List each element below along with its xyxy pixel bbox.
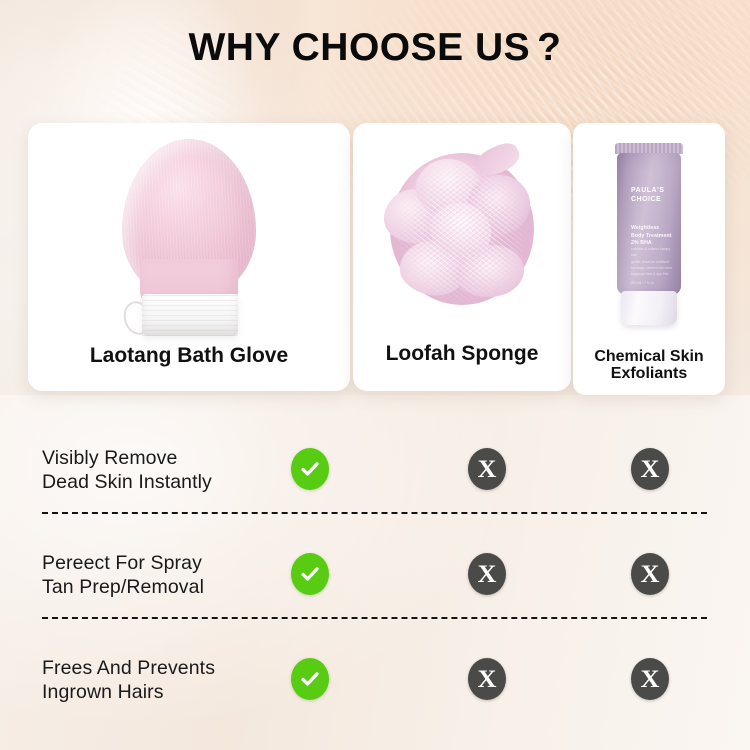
cross-glyph: X (641, 667, 660, 692)
table-row: Frees And Prevents Ingrown Hairs X X (0, 630, 750, 730)
tube-body: PAULA'S CHOICE Weightless Body Treatment… (617, 153, 681, 295)
page-title-text: WHY CHOOSE US (189, 26, 531, 69)
row-divider (42, 512, 707, 514)
tube-brand-name: PAULA'S CHOICE (617, 187, 695, 205)
tube-brand-line-1: PAULA'S (631, 187, 695, 196)
cross-icon: X (631, 553, 669, 595)
feature-label: Visibly Remove Dead Skin Instantly (42, 446, 212, 494)
check-icon (291, 448, 329, 490)
product-card-loofah-sponge[interactable]: Loofah Sponge (353, 123, 571, 391)
mark-cell-bath-glove (291, 658, 329, 700)
mark-cell-bath-glove (291, 448, 329, 490)
product-image-chemical-exfoliants: PAULA'S CHOICE Weightless Body Treatment… (573, 123, 725, 345)
comparison-table: Visibly Remove Dead Skin Instantly X X P… (0, 420, 750, 730)
mark-cell-chemical-exfoliants: X (631, 448, 669, 490)
check-icon (291, 553, 329, 595)
tube-brand-line-2: CHOICE (631, 196, 695, 205)
feature-label-line-2: Ingrown Hairs (42, 680, 215, 704)
cross-glyph: X (478, 457, 497, 482)
feature-label-line-1: Visibly Remove (42, 446, 212, 470)
glove-white-cuff (142, 294, 238, 336)
product-image-bath-glove (28, 123, 350, 341)
row-divider (42, 617, 707, 619)
product-name-chemical-exfoliants: Chemical Skin Exfoliants (573, 348, 725, 383)
table-row: Pereect For Spray Tan Prep/Removal X X (0, 525, 750, 630)
tube-description: Weightless Body Treatment 2% BHA (617, 225, 695, 248)
tube-cap (621, 291, 677, 325)
cross-icon: X (631, 448, 669, 490)
feature-label: Pereect For Spray Tan Prep/Removal (42, 551, 204, 599)
tube-desc-line-2: Body Treatment (631, 233, 695, 241)
product-image-loofah-sponge (353, 123, 571, 338)
cross-glyph: X (478, 667, 497, 692)
loofah-sponge-icon (382, 145, 542, 317)
page-title: WHY CHOOSE US? (0, 28, 750, 67)
tube-fine-line-2: gentle, leave-on exfoliant (631, 259, 675, 265)
mark-cell-chemical-exfoliants: X (631, 658, 669, 700)
feature-label-line-2: Tan Prep/Removal (42, 575, 204, 599)
product-card-row: Laotang Bath Glove Loofah Sponge (0, 123, 750, 395)
cross-icon: X (468, 448, 506, 490)
mark-cell-loofah-sponge: X (468, 553, 506, 595)
cross-icon: X (468, 658, 506, 700)
feature-label-line-2: Dead Skin Instantly (42, 470, 212, 494)
product-name-line-1: Chemical Skin (573, 348, 725, 365)
cross-glyph: X (641, 457, 660, 482)
cross-glyph: X (641, 562, 660, 587)
product-name-bath-glove: Laotang Bath Glove (28, 345, 350, 368)
mark-cell-loofah-sponge: X (468, 448, 506, 490)
feature-label-line-1: Frees And Prevents (42, 656, 215, 680)
mark-cell-bath-glove (291, 553, 329, 595)
check-icon (291, 658, 329, 700)
product-card-chemical-exfoliants[interactable]: PAULA'S CHOICE Weightless Body Treatment… (573, 123, 725, 395)
cross-icon: X (631, 658, 669, 700)
cross-glyph: X (478, 562, 497, 587)
cross-icon: X (468, 553, 506, 595)
mark-cell-loofah-sponge: X (468, 658, 506, 700)
tube-fine-line-4: fragrance free & dye free (631, 271, 675, 277)
exfoliant-tube-icon: PAULA'S CHOICE Weightless Body Treatment… (612, 143, 686, 333)
why-choose-us-poster: WHY CHOOSE US? Laotang Bath Glove (0, 0, 750, 750)
tube-fine-print: smooths & softens bumpy skin gentle, lea… (631, 246, 675, 277)
product-name-line-2: Exfoliants (573, 365, 725, 382)
page-title-question-mark: ? (530, 26, 561, 69)
mark-cell-chemical-exfoliants: X (631, 553, 669, 595)
tube-volume: 210 ml / 7 fl. oz. (631, 281, 655, 285)
tube-fine-line-1: smooths & softens bumpy skin (631, 246, 675, 259)
product-name-loofah-sponge: Loofah Sponge (353, 343, 571, 366)
table-row: Visibly Remove Dead Skin Instantly X X (0, 420, 750, 525)
feature-label: Frees And Prevents Ingrown Hairs (42, 656, 215, 704)
product-card-bath-glove[interactable]: Laotang Bath Glove (28, 123, 350, 391)
bath-glove-icon (114, 139, 264, 335)
tube-desc-line-1: Weightless (631, 225, 695, 233)
loofah-mesh-texture (392, 155, 532, 307)
feature-label-line-1: Pereect For Spray (42, 551, 204, 575)
